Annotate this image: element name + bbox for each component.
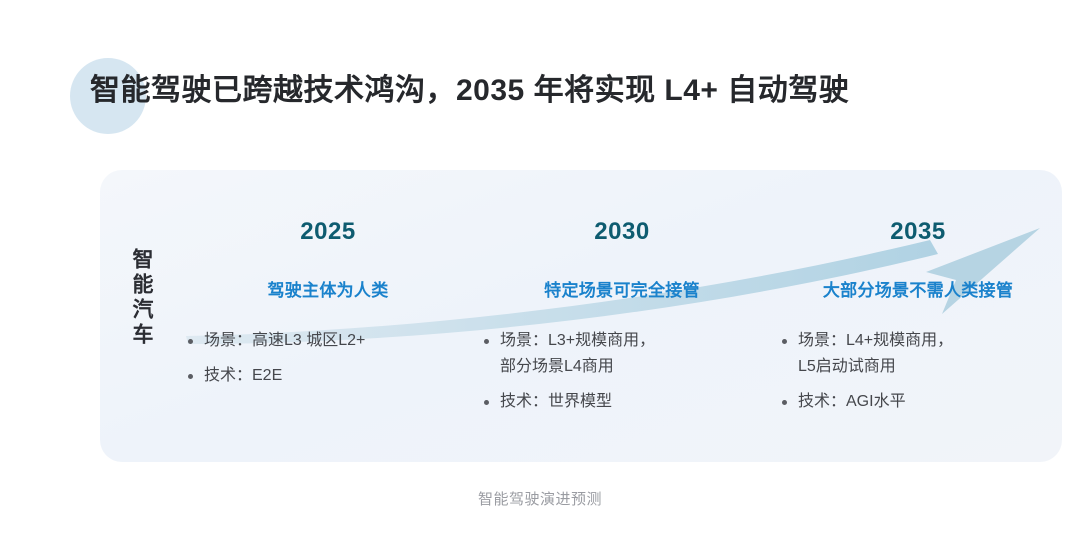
list-item: 场景：L4+规模商用， L5启动试商用 (780, 328, 1062, 380)
column-bullet-list: 场景：高速L3 城区L2+ 技术：E2E (186, 328, 486, 398)
list-item: 技术：AGI水平 (780, 389, 1062, 415)
figure-caption: 智能驾驶演进预测 (0, 488, 1080, 509)
column-year: 2030 (472, 218, 772, 246)
axis-label-vertical: 智能汽车 (118, 248, 152, 348)
list-item: 场景：高速L3 城区L2+ (186, 328, 486, 354)
column-bullet-list: 场景：L3+规模商用， 部分场景L4商用 技术：世界模型 (482, 328, 782, 424)
slide-canvas: 智能驾驶已跨越技术鸿沟，2035 年将实现 L4+ 自动驾驶 智能汽车 2025… (0, 0, 1080, 536)
column-subtitle: 特定场景可完全接管 (472, 276, 772, 301)
list-item: 场景：L3+规模商用， 部分场景L4商用 (482, 328, 782, 380)
list-item: 技术：E2E (186, 363, 486, 389)
column-year: 2025 (178, 218, 478, 246)
page-title-text: 智能驾驶已跨越技术鸿沟，2035 年将实现 L4+ 自动驾驶 (90, 68, 849, 114)
column-subtitle: 大部分场景不需人类接管 (768, 276, 1062, 301)
column-year: 2035 (768, 218, 1062, 246)
timeline-column-2030[interactable]: 2030 特定场景可完全接管 场景：L3+规模商用， 部分场景L4商用 技术：世… (472, 170, 772, 462)
timeline-columns: 2025 驾驶主体为人类 场景：高速L3 城区L2+ 技术：E2E 2030 特… (170, 170, 1062, 462)
column-subtitle: 驾驶主体为人类 (178, 276, 478, 301)
page-title: 智能驾驶已跨越技术鸿沟，2035 年将实现 L4+ 自动驾驶 (70, 56, 1010, 136)
list-item: 技术：世界模型 (482, 389, 782, 415)
timeline-card: 智能汽车 2025 驾驶主体为人类 场景：高速L3 城区L2+ 技术：E2E 2… (100, 170, 1062, 462)
column-bullet-list: 场景：L4+规模商用， L5启动试商用 技术：AGI水平 (780, 328, 1062, 424)
timeline-column-2035[interactable]: 2035 大部分场景不需人类接管 场景：L4+规模商用， L5启动试商用 技术：… (768, 170, 1062, 462)
timeline-column-2025[interactable]: 2025 驾驶主体为人类 场景：高速L3 城区L2+ 技术：E2E (178, 170, 478, 462)
